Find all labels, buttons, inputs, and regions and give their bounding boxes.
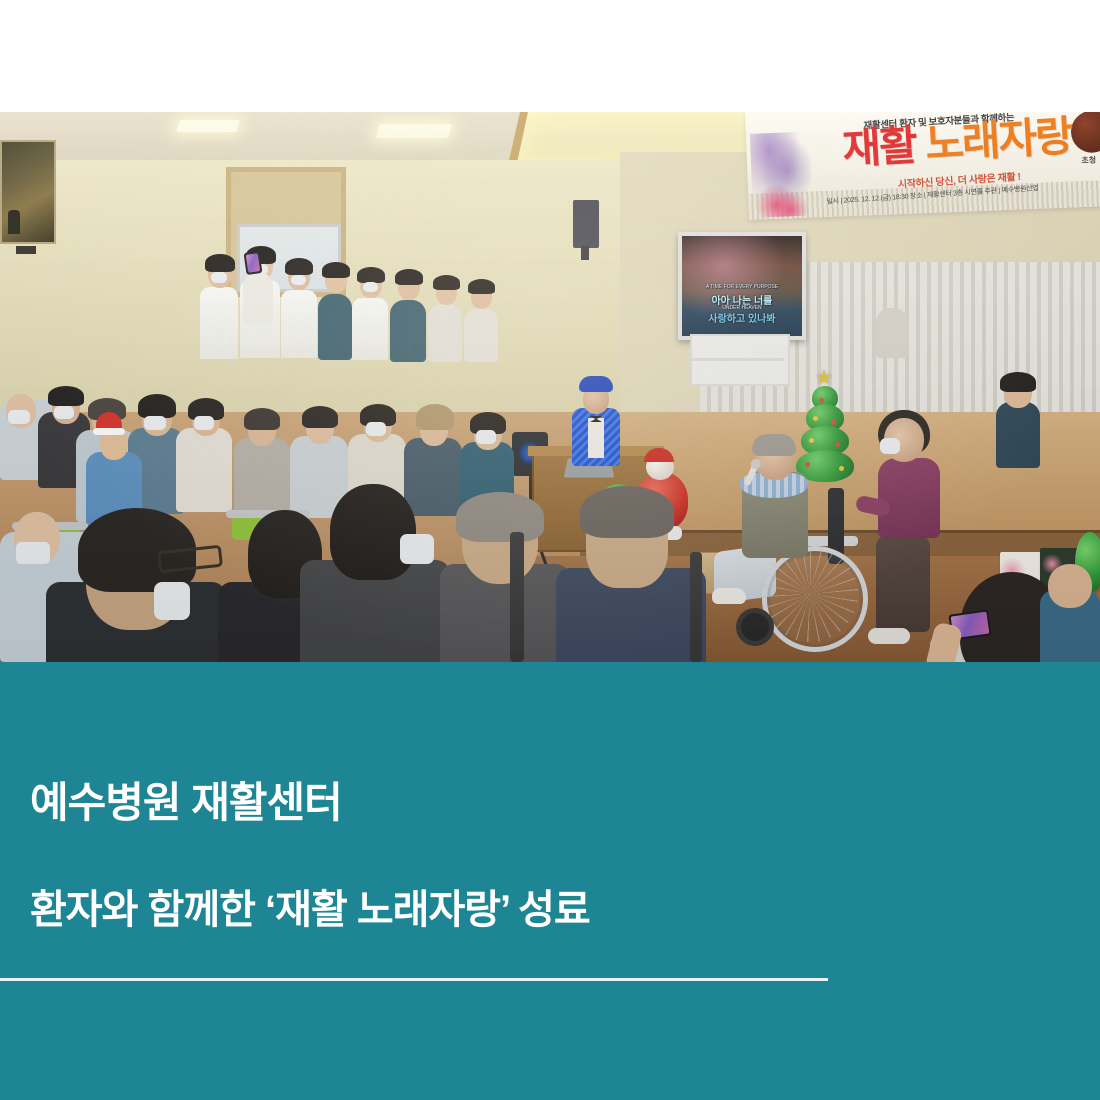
- caption-panel: 예수병원 재활센터 환자와 함께한 ‘재활 노래자랑’ 성료: [0, 662, 1100, 1100]
- audience-hair: [48, 386, 84, 406]
- face-mask-icon: [154, 582, 190, 620]
- tv-stand-shelf: [690, 334, 790, 386]
- face-mask-icon: [194, 416, 214, 430]
- face-mask-icon: [211, 272, 227, 283]
- staff-body: [428, 304, 462, 362]
- face-mask-icon: [54, 406, 74, 419]
- audience-head: [1048, 564, 1092, 608]
- face-mask-icon: [366, 422, 386, 436]
- ornament-icon: [835, 442, 840, 447]
- event-banner: 재활센터 환자 및 보호자분들과 함께하는 재활 노래자랑 시작하신 당신, 더…: [745, 112, 1100, 220]
- ceiling-light-icon: [376, 124, 452, 138]
- audience-hair: [580, 486, 674, 538]
- wall-speaker-icon: [573, 200, 599, 248]
- page-title: 예수병원 재활센터: [30, 780, 342, 826]
- event-photo: A TIME FOR EVERY PURPOSE 아아 나는 너를 UNDER …: [0, 112, 1100, 662]
- banner-flower-graphic: [750, 132, 813, 218]
- audience-hair: [138, 394, 176, 418]
- staff-hair: [285, 258, 313, 275]
- ornament-icon: [809, 438, 814, 443]
- caregiver-legs: [876, 536, 930, 632]
- face-mask-icon: [16, 542, 50, 564]
- banner-title-part1: 재활: [841, 121, 917, 172]
- news-card: A TIME FOR EVERY PURPOSE 아아 나는 너를 UNDER …: [0, 0, 1100, 1100]
- ornament-icon: [831, 420, 836, 425]
- wheelchair-push-handle: [510, 532, 524, 662]
- audience-hair: [1000, 372, 1036, 392]
- smartphone-icon: [244, 251, 263, 275]
- staff-hair: [395, 269, 423, 285]
- audience-body: [876, 308, 908, 358]
- audience-beanie: [416, 404, 454, 430]
- mc-shirt: [588, 418, 604, 458]
- ornament-icon: [805, 462, 810, 467]
- staff-hair: [468, 279, 495, 294]
- face-mask-icon: [8, 410, 30, 424]
- face-mask-icon: [476, 430, 496, 444]
- banner-photo-circle: [1070, 112, 1100, 153]
- ceiling-light-icon: [176, 120, 240, 132]
- wheelchair-push-handle: [690, 552, 702, 662]
- caregiver-body: [878, 458, 940, 538]
- face-mask-icon: [400, 534, 434, 564]
- staff-hair: [357, 267, 385, 283]
- audience-hair: [302, 406, 338, 428]
- audience-body: [404, 438, 462, 516]
- audience-hair: [330, 484, 416, 580]
- patient-hair: [752, 434, 796, 456]
- page-subtitle: 환자와 함께한 ‘재활 노래자랑’ 성료: [30, 888, 590, 932]
- tv-lyric-small-top: A TIME FOR EVERY PURPOSE: [688, 284, 796, 290]
- tv-screen: A TIME FOR EVERY PURPOSE 아아 나는 너를 UNDER …: [678, 232, 806, 340]
- staff-white-coat: [352, 298, 388, 360]
- staff-white-coat: [200, 287, 238, 359]
- photographer-body: [243, 272, 273, 324]
- ornament-icon: [819, 398, 824, 403]
- face-mask-icon: [144, 416, 166, 430]
- ornament-icon: [813, 416, 818, 421]
- staff-white-coat: [281, 290, 317, 358]
- staff-hair: [322, 262, 350, 278]
- audience-hair: [244, 408, 280, 430]
- mc-beret: [579, 376, 613, 392]
- ornament-icon: [839, 466, 844, 471]
- top-white-margin: [0, 0, 1100, 112]
- banner-title: 재활 노래자랑: [841, 115, 1073, 171]
- banner-title-part2: 노래자랑: [924, 112, 1073, 168]
- audience-body: [996, 402, 1040, 468]
- staff-hair: [205, 254, 235, 272]
- painting-plaque: [16, 246, 36, 254]
- photo-scene: A TIME FOR EVERY PURPOSE 아아 나는 너를 UNDER …: [0, 112, 1100, 662]
- wheelchair-caster-wheel: [736, 608, 774, 646]
- wheelchair-spokes: [762, 546, 858, 642]
- face-mask-icon: [880, 438, 900, 454]
- audience-body: [234, 438, 290, 518]
- santa-hat-icon: [96, 412, 122, 432]
- audience-body: [176, 428, 232, 512]
- staff-scrubs: [318, 294, 352, 360]
- banner-side-text: 초청: [1081, 155, 1096, 167]
- caregiver-shoe: [868, 628, 910, 644]
- wall-painting: [0, 140, 56, 244]
- divider: [0, 978, 828, 981]
- audience-hair: [456, 492, 544, 542]
- tv-lyric-line-2: 사랑하고 있나봐: [688, 310, 796, 325]
- face-mask-icon: [363, 282, 378, 292]
- face-mask-icon: [291, 275, 306, 285]
- staff-hair: [433, 275, 460, 290]
- staff-body: [464, 308, 498, 362]
- staff-scrubs: [390, 300, 426, 362]
